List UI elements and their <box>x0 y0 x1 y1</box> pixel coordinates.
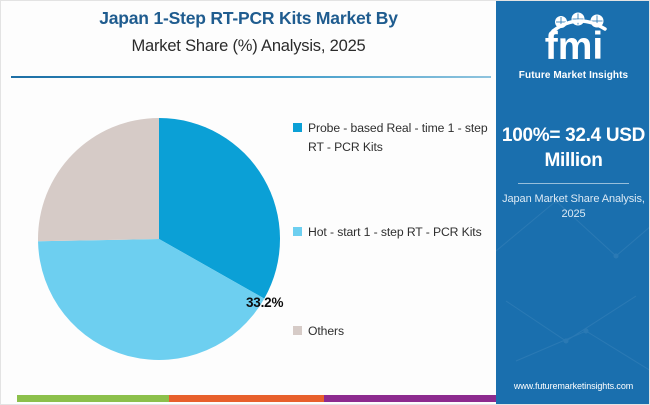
panel-subtitle: Japan Market Share Analysis, 2025 <box>496 192 650 222</box>
legend-item-others[interactable]: Others <box>293 322 489 341</box>
pie-slice-others[interactable] <box>38 118 159 241</box>
legend-label-probe-based: Probe - based Real - time 1 - step RT - … <box>308 119 489 156</box>
fmi-logo-tagline: Future Market Insights <box>496 70 650 81</box>
side-panel: fmi Future Market Insights 100%= 32.4 US… <box>496 1 650 405</box>
legend-swatch-hot-start <box>293 227 302 236</box>
legend-swatch-others <box>293 326 302 335</box>
footer-color-bar <box>17 395 496 402</box>
legend-label-others: Others <box>308 322 489 341</box>
legend-swatch-probe-based <box>293 123 302 132</box>
color-bar-segment-green <box>17 395 169 402</box>
infographic-root: Japan 1-Step RT-PCR Kits Market By Marke… <box>0 0 650 405</box>
legend-item-probe-based[interactable]: Probe - based Real - time 1 - step RT - … <box>293 119 489 156</box>
pie-slices <box>38 118 280 360</box>
panel-divider <box>518 183 629 184</box>
fmi-logo[interactable]: fmi Future Market Insights <box>496 9 650 81</box>
pie-chart: 33.2% <box>34 114 284 364</box>
panel-stat-value: 100%= 32.4 USD Million <box>496 123 650 173</box>
fmi-logo-mark: fmi <box>522 9 626 69</box>
svg-text:fmi: fmi <box>544 25 603 68</box>
chart-main-area: Japan 1-Step RT-PCR Kits Market By Marke… <box>1 1 496 405</box>
page-title-line2: Market Share (%) Analysis, 2025 <box>1 37 496 56</box>
legend-label-hot-start: Hot - start 1 - step RT - PCR Kits <box>308 223 489 242</box>
page-title-line1: Japan 1-Step RT-PCR Kits Market By <box>1 8 496 29</box>
pie-slice-label-probe-based: 33.2% <box>246 295 283 310</box>
legend-item-hot-start[interactable]: Hot - start 1 - step RT - PCR Kits <box>293 223 489 242</box>
pie-chart-svg <box>34 114 284 364</box>
color-bar-segment-orange <box>169 395 324 402</box>
header: Japan 1-Step RT-PCR Kits Market By Marke… <box>1 1 496 78</box>
panel-website-url[interactable]: www.futuremarketinsights.com <box>496 381 650 391</box>
header-divider <box>11 76 491 78</box>
color-bar-segment-purple <box>324 395 496 402</box>
